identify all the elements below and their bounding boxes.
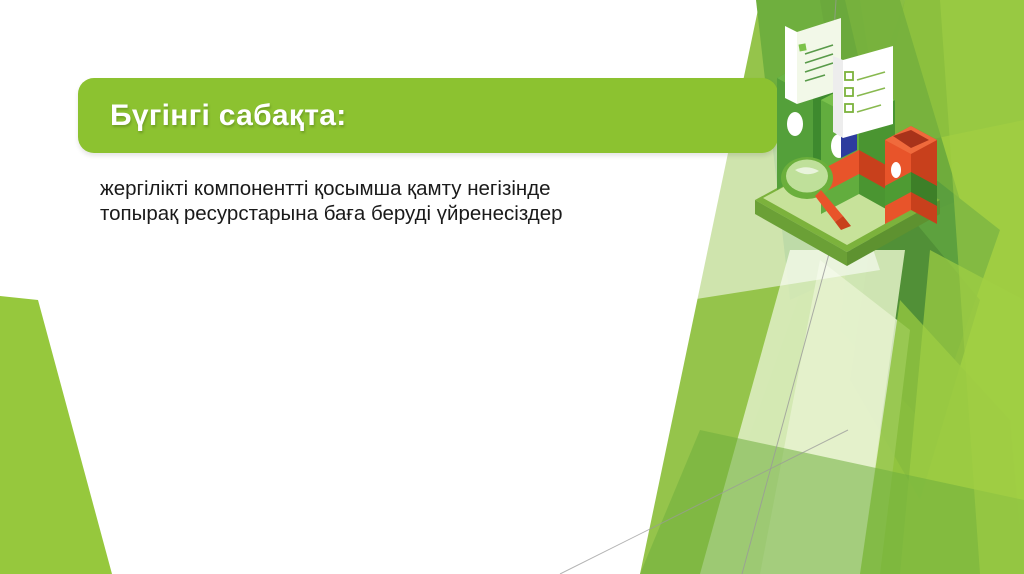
title-banner: Бүгінгі сабақта: — [78, 78, 778, 153]
bottom-left-wedge — [0, 296, 112, 574]
slide-canvas: Бүгінгі сабақта: жергілікті компонентті … — [0, 0, 1024, 574]
page-title: Бүгінгі сабақта: — [110, 99, 347, 133]
body-line-2: топырақ ресурстарына баға беруді үйренес… — [100, 201, 800, 226]
document-holders-magnifier-illustration — [735, 18, 960, 268]
body-line-1: жергілікті компонентті қосымша қамту нег… — [100, 176, 800, 201]
document-holder-orange — [885, 126, 937, 224]
body-text: жергілікті компонентті қосымша қамту нег… — [100, 176, 800, 226]
